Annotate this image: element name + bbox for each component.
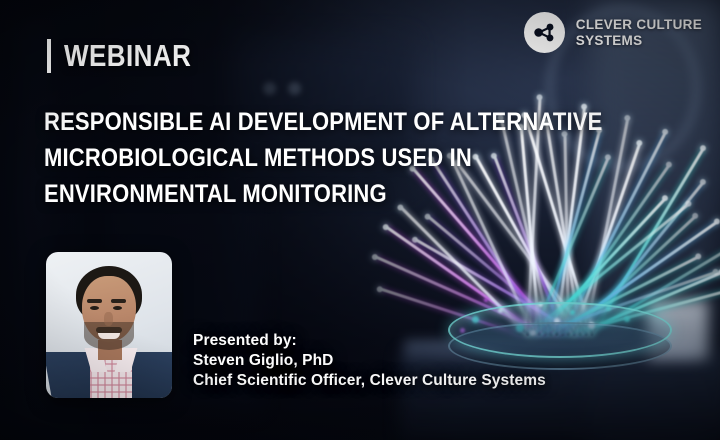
lab-knob-b [288,82,301,95]
presenter-name: Steven Giglio, PhD [193,351,546,371]
page-title: RESPONSIBLE AI DEVELOPMENT OF ALTERNATIV… [44,104,644,212]
eyebrow-accent-bar [47,39,51,73]
presented-by-label: Presented by: [193,331,546,351]
molecule-network-icon [524,12,565,53]
headline-line-1: RESPONSIBLE AI DEVELOPMENT OF ALTERNATIV… [44,104,572,140]
glow-spore [484,298,488,302]
avatar-mouth [98,333,120,339]
brand-name: CLEVER CULTURE SYSTEMS [576,17,702,48]
webinar-promo-banner: CLEVER CULTURE SYSTEMS WEBINAR RESPONSIB… [0,0,720,440]
avatar [46,252,172,398]
avatar-eye-left [90,306,99,310]
avatar-brow-right [111,299,126,303]
avatar-nose [104,312,113,326]
avatar-eye-right [113,306,122,310]
headline-line-2: MICROBIOLOGICAL METHODS USED IN [44,140,572,176]
brand-logo[interactable]: CLEVER CULTURE SYSTEMS [524,12,702,53]
eyebrow-label: WEBINAR [64,38,191,74]
lab-knob-a [263,82,276,95]
eyebrow: WEBINAR [47,38,216,74]
presenter-title: Chief Scientific Officer, Clever Culture… [193,371,546,391]
headline-line-3: ENVIRONMENTAL MONITORING [44,176,572,212]
presenter-block: Presented by: Steven Giglio, PhD Chief S… [193,331,546,391]
avatar-brow-left [87,299,102,303]
